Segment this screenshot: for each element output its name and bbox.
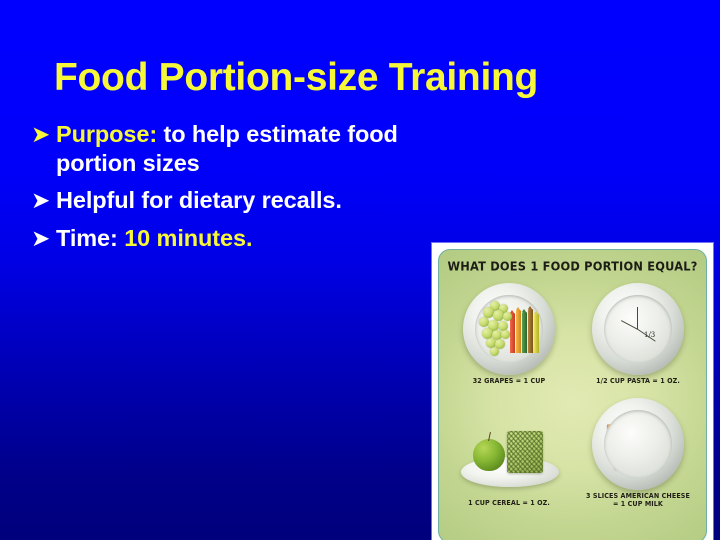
title-part-2: Training bbox=[389, 56, 538, 99]
list-item: ➤ Helpful for dietary recalls. bbox=[30, 186, 440, 215]
cereal-block-icon bbox=[507, 431, 543, 473]
poster-title: WHAT DOES 1 FOOD PORTION EQUAL? bbox=[439, 258, 706, 273]
bullet-3-text: Time: bbox=[56, 225, 124, 251]
arrow-bullet-icon: ➤ bbox=[31, 187, 50, 215]
bullet-1-highlight: Purpose bbox=[56, 121, 149, 147]
food-portion-poster-image: WHAT DOES 1 FOOD PORTION EQUAL? bbox=[432, 243, 713, 540]
arrow-bullet-icon: ➤ bbox=[31, 225, 50, 253]
pasta-fraction-label: 1/3 bbox=[644, 331, 655, 339]
poster-caption-cereal: 1 CUP CEREAL = 1 OZ. bbox=[447, 498, 571, 507]
poster-cell-pasta: 1/3 1/2 CUP PASTA = 1 OZ. bbox=[579, 283, 697, 385]
bullet-3-highlight: 10 minutes. bbox=[124, 225, 252, 251]
apple-icon bbox=[473, 439, 505, 471]
plate-icon bbox=[592, 398, 684, 490]
poster-cell-grapes: 32 GRAPES = 1 CUP bbox=[451, 283, 567, 385]
poster-caption-cheese-line2: = 1 CUP MILK bbox=[579, 500, 697, 509]
bullet-1-line2: portion sizes bbox=[56, 150, 200, 176]
plate-icon: 1/3 bbox=[592, 283, 684, 375]
bullet-2-text: Helpful for dietary recalls. bbox=[56, 187, 342, 213]
title-part-1: Food Portion-size bbox=[54, 56, 389, 99]
bullet-1-colon: : bbox=[149, 121, 157, 147]
poster-caption-pasta: 1/2 CUP PASTA = 1 OZ. bbox=[579, 376, 697, 385]
page-title: Food Portion-size Training bbox=[54, 57, 674, 99]
poster-card: WHAT DOES 1 FOOD PORTION EQUAL? bbox=[438, 249, 707, 540]
poster-cell-cereal: 1 CUP CEREAL = 1 OZ. bbox=[447, 413, 571, 507]
poster-caption-grapes: 32 GRAPES = 1 CUP bbox=[451, 376, 567, 385]
list-item: ➤ Purpose: to help estimate food portion… bbox=[30, 120, 440, 177]
bullet-1-text: to help estimate food bbox=[157, 121, 398, 147]
poster-cell-cheese: 3 SLICES AMERICAN CHEESE = 1 CUP MILK bbox=[579, 398, 697, 509]
slide-canvas: Food Portion-size Training ➤ Purpose: to… bbox=[0, 0, 720, 540]
arrow-bullet-icon: ➤ bbox=[31, 121, 50, 149]
bullet-list: ➤ Purpose: to help estimate food portion… bbox=[30, 120, 440, 259]
list-item: ➤ Time: 10 minutes. bbox=[30, 224, 440, 253]
plate-icon bbox=[463, 283, 555, 375]
